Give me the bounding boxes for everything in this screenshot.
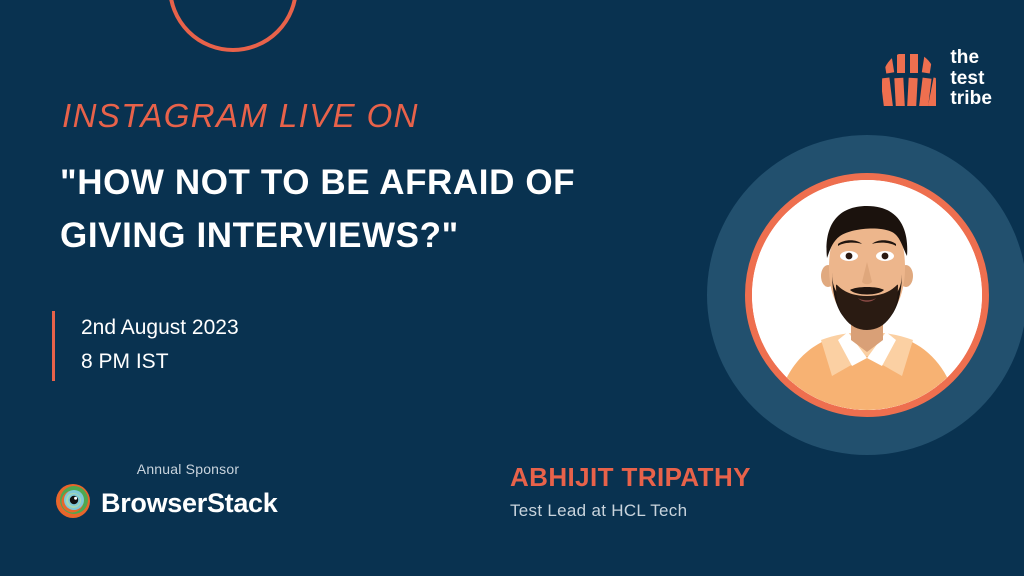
speaker-role: Test Lead at HCL Tech <box>510 501 751 521</box>
speaker-portrait-ring <box>745 173 989 417</box>
sponsor-logo: BrowserStack <box>55 483 313 524</box>
orange-circle-outline-icon <box>168 0 298 52</box>
schedule-block: 2nd August 2023 8 PM IST <box>52 311 239 381</box>
event-time: 8 PM IST <box>81 345 239 379</box>
page-title: "HOW NOT TO BE AFRAID OF GIVING INTERVIE… <box>60 156 690 262</box>
event-date: 2nd August 2023 <box>81 311 239 345</box>
brand-word-line-2: test <box>950 69 992 90</box>
brand-logo: the test tribe <box>880 48 992 110</box>
brand-word-line-1: the <box>950 48 992 69</box>
browserstack-eye-icon <box>55 483 91 524</box>
brand-word-line-3: tribe <box>950 89 992 110</box>
test-tribe-dome-icon <box>880 51 938 107</box>
eyebrow-text: INSTAGRAM LIVE ON <box>62 97 419 135</box>
promo-banner: the test tribe INSTAGRAM LIVE ON "HOW NO… <box>0 0 1024 576</box>
sponsor-label: Annual Sponsor <box>63 461 313 477</box>
speaker-name: ABHIJIT TRIPATHY <box>510 462 751 493</box>
speaker-block: ABHIJIT TRIPATHY Test Lead at HCL Tech <box>510 462 751 521</box>
sponsor-block: Annual Sponsor BrowserStack <box>55 461 313 524</box>
sponsor-name: BrowserStack <box>101 488 278 519</box>
brand-wordmark: the test tribe <box>950 48 992 110</box>
speaker-portrait-photo <box>752 180 982 410</box>
speaker-portrait-disc <box>707 135 1024 455</box>
